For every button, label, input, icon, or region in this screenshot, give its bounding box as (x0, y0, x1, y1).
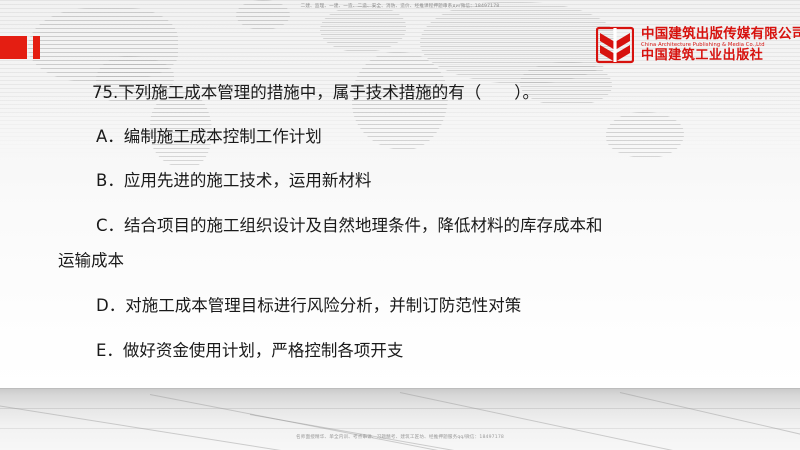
option-c-wrap-line: 运输成本 (58, 250, 124, 272)
footer-watermark-text: 名师面授精华、单全内训、考点串讲、习题精考、建筑工匠坊、经推押题服务qq/微信：… (0, 434, 800, 442)
slide-canvas: 二建、监理、一建、一造、二造、安全、消防、造价、经推课程押题串系ди/微信：18… (0, 0, 800, 450)
option-d[interactable]: D．对施工成本管理目标进行风险分析，并制订防范性对策 (96, 295, 521, 317)
floor-line-horizontal (0, 408, 800, 409)
option-a[interactable]: A．编制施工成本控制工作计划 (96, 126, 322, 148)
question-content: 75.下列施工成本管理的措施中，属于技术措施的有（ ）。 A．编制施工成本控制工… (0, 0, 800, 388)
option-b[interactable]: B．应用先进的施工技术，运用新材料 (96, 170, 371, 192)
option-e[interactable]: E．做好资金使用计划，严格控制各项开支 (96, 340, 403, 362)
question-stem: 75.下列施工成本管理的措施中，属于技术措施的有（ ）。 (92, 82, 539, 104)
floor-line-horizontal (0, 428, 800, 429)
option-c[interactable]: C．结合项目的施工组织设计及自然地理条件，降低材料的库存成本和 (96, 215, 603, 237)
floor-horizon-line (0, 388, 800, 389)
floor-line-diagonal (250, 414, 546, 450)
